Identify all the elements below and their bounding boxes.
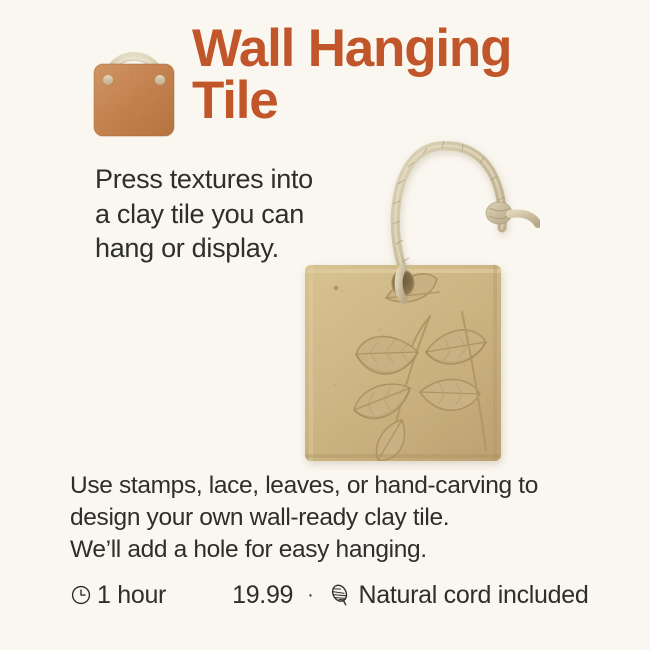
duration-meta: 1 hour xyxy=(70,581,166,610)
wall-hanging-tile-icon xyxy=(88,38,180,138)
description-line-1: Use stamps, lace, leaves, or hand-carvin… xyxy=(70,470,610,502)
meta-separator: · xyxy=(307,585,313,605)
material-meta: Natural cord included xyxy=(328,581,589,610)
description-text: Use stamps, lace, leaves, or hand-carvin… xyxy=(70,470,610,566)
clay-tile-photo xyxy=(290,120,540,470)
material-label: Natural cord included xyxy=(359,581,589,610)
clock-icon xyxy=(70,584,92,606)
title-line-1: Wall Hanging xyxy=(192,24,622,74)
price-label: 19.99 xyxy=(232,581,293,610)
product-card: Wall Hanging Tile Press textures into a … xyxy=(0,0,650,650)
meta-row: 1 hour 19.99 · xyxy=(70,578,630,612)
description-line-2: design your own wall-ready clay tile. xyxy=(70,502,610,534)
description-line-3: We’ll add a hole for easy hanging. xyxy=(70,534,610,566)
page-title: Wall Hanging Tile xyxy=(192,24,622,127)
duration-label: 1 hour xyxy=(97,581,166,610)
yarn-ball-icon xyxy=(328,583,352,607)
